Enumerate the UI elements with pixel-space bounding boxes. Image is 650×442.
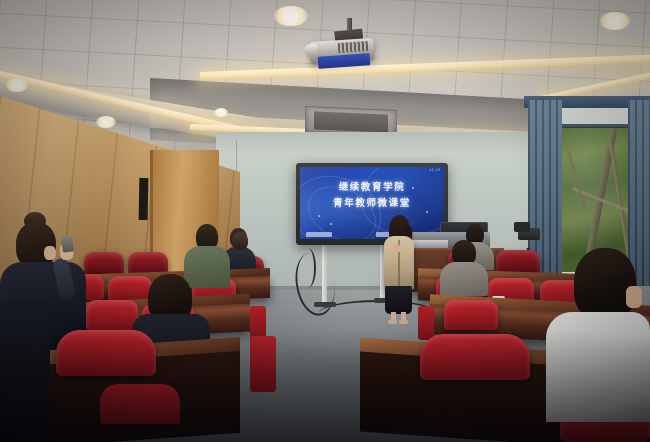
slide-sparkle [318,215,320,217]
presenter-shoe [388,320,397,324]
presentation-display[interactable]: 11:24 继续教育学院 青年教师微课堂 [300,167,444,239]
audience-body [0,300,50,442]
projector-vents [338,41,369,53]
presenter-skirt [385,286,412,314]
air-diffuser-grille [314,111,388,132]
presenter-hands [392,244,401,253]
wall-recess-slot [139,178,149,220]
screen-stand-foot [314,302,336,307]
audience-ear [626,286,642,308]
seat[interactable] [444,300,498,330]
audience-head [232,232,248,250]
slide-title-line-2: 青年教师微课堂 [300,195,444,209]
seat-armrest [418,306,434,340]
seat[interactable] [420,334,530,380]
projector-lens [304,44,319,58]
audience-body [546,312,650,422]
downlight-icon [6,78,28,92]
audience-body [440,262,488,296]
downlight-icon [274,6,308,26]
slide-title-line-1: 继续教育学院 [300,179,444,193]
audience-body [184,246,230,288]
smartphone-icon[interactable] [61,235,74,252]
seat-armrest [250,306,266,340]
downlight-icon [96,116,116,128]
seat[interactable] [56,330,156,376]
slide-sparkle [330,223,332,225]
camera-icon [514,222,530,232]
back-wall-upper [216,132,556,154]
presenter-shoe [399,320,408,324]
floor-cable [300,248,316,288]
display-status-text: 11:24 [429,168,441,172]
seat[interactable] [86,300,138,330]
seat-armrest [250,336,276,392]
audience-head [574,248,636,320]
downlight-icon [214,108,228,117]
seat[interactable] [100,384,180,424]
taskbar-chip[interactable] [306,232,332,237]
downlight-icon [600,12,630,30]
slide-sparkle [426,211,428,213]
audience-face [44,246,56,260]
classroom-photo: 11:24 继续教育学院 青年教师微课堂 [0,0,650,442]
screen-stand-leg [322,243,327,305]
